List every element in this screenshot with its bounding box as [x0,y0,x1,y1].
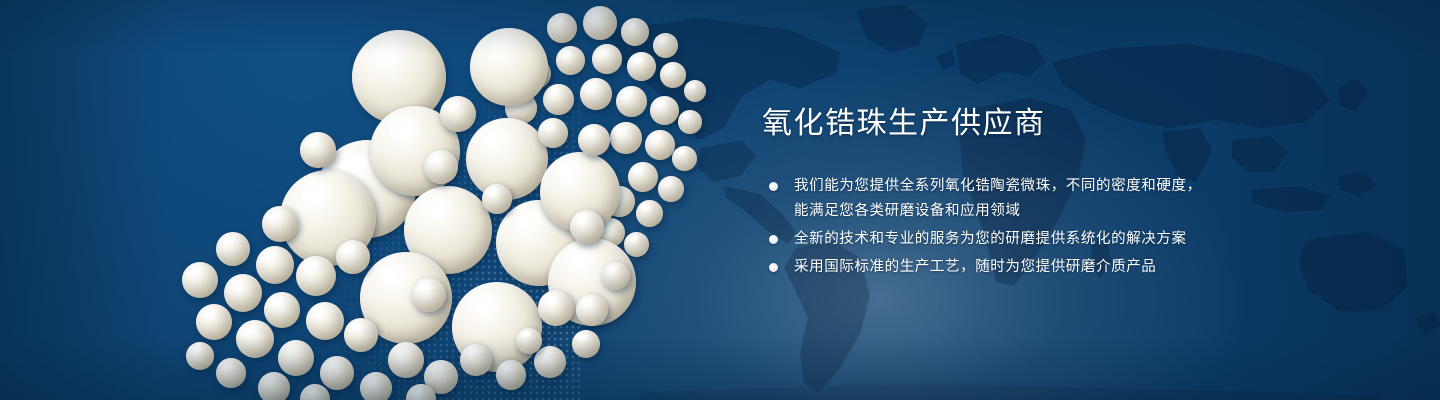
list-item: 我们能为您提供全系列氧化锆陶瓷微珠，不同的密度和硬度， 能满足您各类研磨设备和应… [762,174,1232,224]
bullet-dot-icon [769,263,778,272]
list-item: 全新的技术和专业的服务为您的研磨提供系统化的解决方案 [762,227,1232,252]
feature-list: 我们能为您提供全系列氧化锆陶瓷微珠，不同的密度和硬度， 能满足您各类研磨设备和应… [762,174,1232,280]
list-item: 采用国际标准的生产工艺，随时为您提供研磨介质产品 [762,255,1232,280]
bullet-dot-icon [769,235,778,244]
bullet-dot-icon [769,182,778,191]
list-item-line: 能满足您各类研磨设备和应用领域 [794,203,1021,219]
list-item-line: 全新的技术和专业的服务为您的研磨提供系统化的解决方案 [794,231,1187,247]
page-title: 氧化锆珠生产供应商 [762,104,1232,144]
hero-banner: 氧化锆珠生产供应商 我们能为您提供全系列氧化锆陶瓷微珠，不同的密度和硬度， 能满… [0,0,1440,400]
list-item-line: 我们能为您提供全系列氧化锆陶瓷微珠，不同的密度和硬度， [794,178,1202,194]
list-item-line: 采用国际标准的生产工艺，随时为您提供研磨介质产品 [794,259,1156,275]
banner-content: 氧化锆珠生产供应商 我们能为您提供全系列氧化锆陶瓷微珠，不同的密度和硬度， 能满… [762,104,1232,283]
